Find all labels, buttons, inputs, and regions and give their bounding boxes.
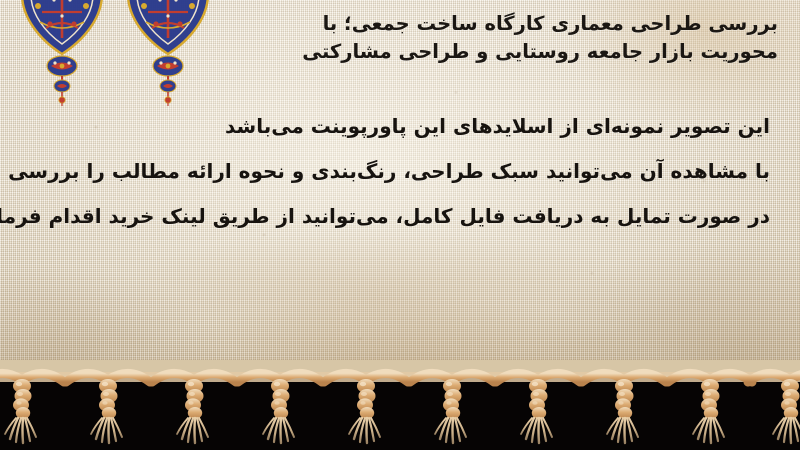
carpet-medallion-group bbox=[0, 0, 230, 106]
title-line-2: محوریت بازار جامعه روستایی و طراحی مشارک… bbox=[218, 38, 778, 66]
body-line-2: با مشاهده آن می‌توانید سبک طراحی، رنگ‌بن… bbox=[30, 149, 770, 194]
slide-canvas: بررسی طراحی معماری کارگاه ساخت جمعی؛ با … bbox=[0, 0, 800, 450]
slide-body: این تصویر نمونه‌ای از اسلایدهای این پاور… bbox=[30, 104, 770, 239]
slide-title: بررسی طراحی معماری کارگاه ساخت جمعی؛ با … bbox=[218, 10, 778, 66]
carpet-fringe-svg bbox=[0, 360, 800, 450]
body-line-1: این تصویر نمونه‌ای از اسلایدهای این پاور… bbox=[30, 104, 770, 149]
carpet-medallion-svg bbox=[0, 0, 230, 106]
title-line-1: بررسی طراحی معماری کارگاه ساخت جمعی؛ با bbox=[218, 10, 778, 38]
body-line-3: در صورت تمایل به دریافت فایل کامل، می‌تو… bbox=[30, 194, 770, 239]
carpet-fringe-band bbox=[0, 360, 800, 450]
